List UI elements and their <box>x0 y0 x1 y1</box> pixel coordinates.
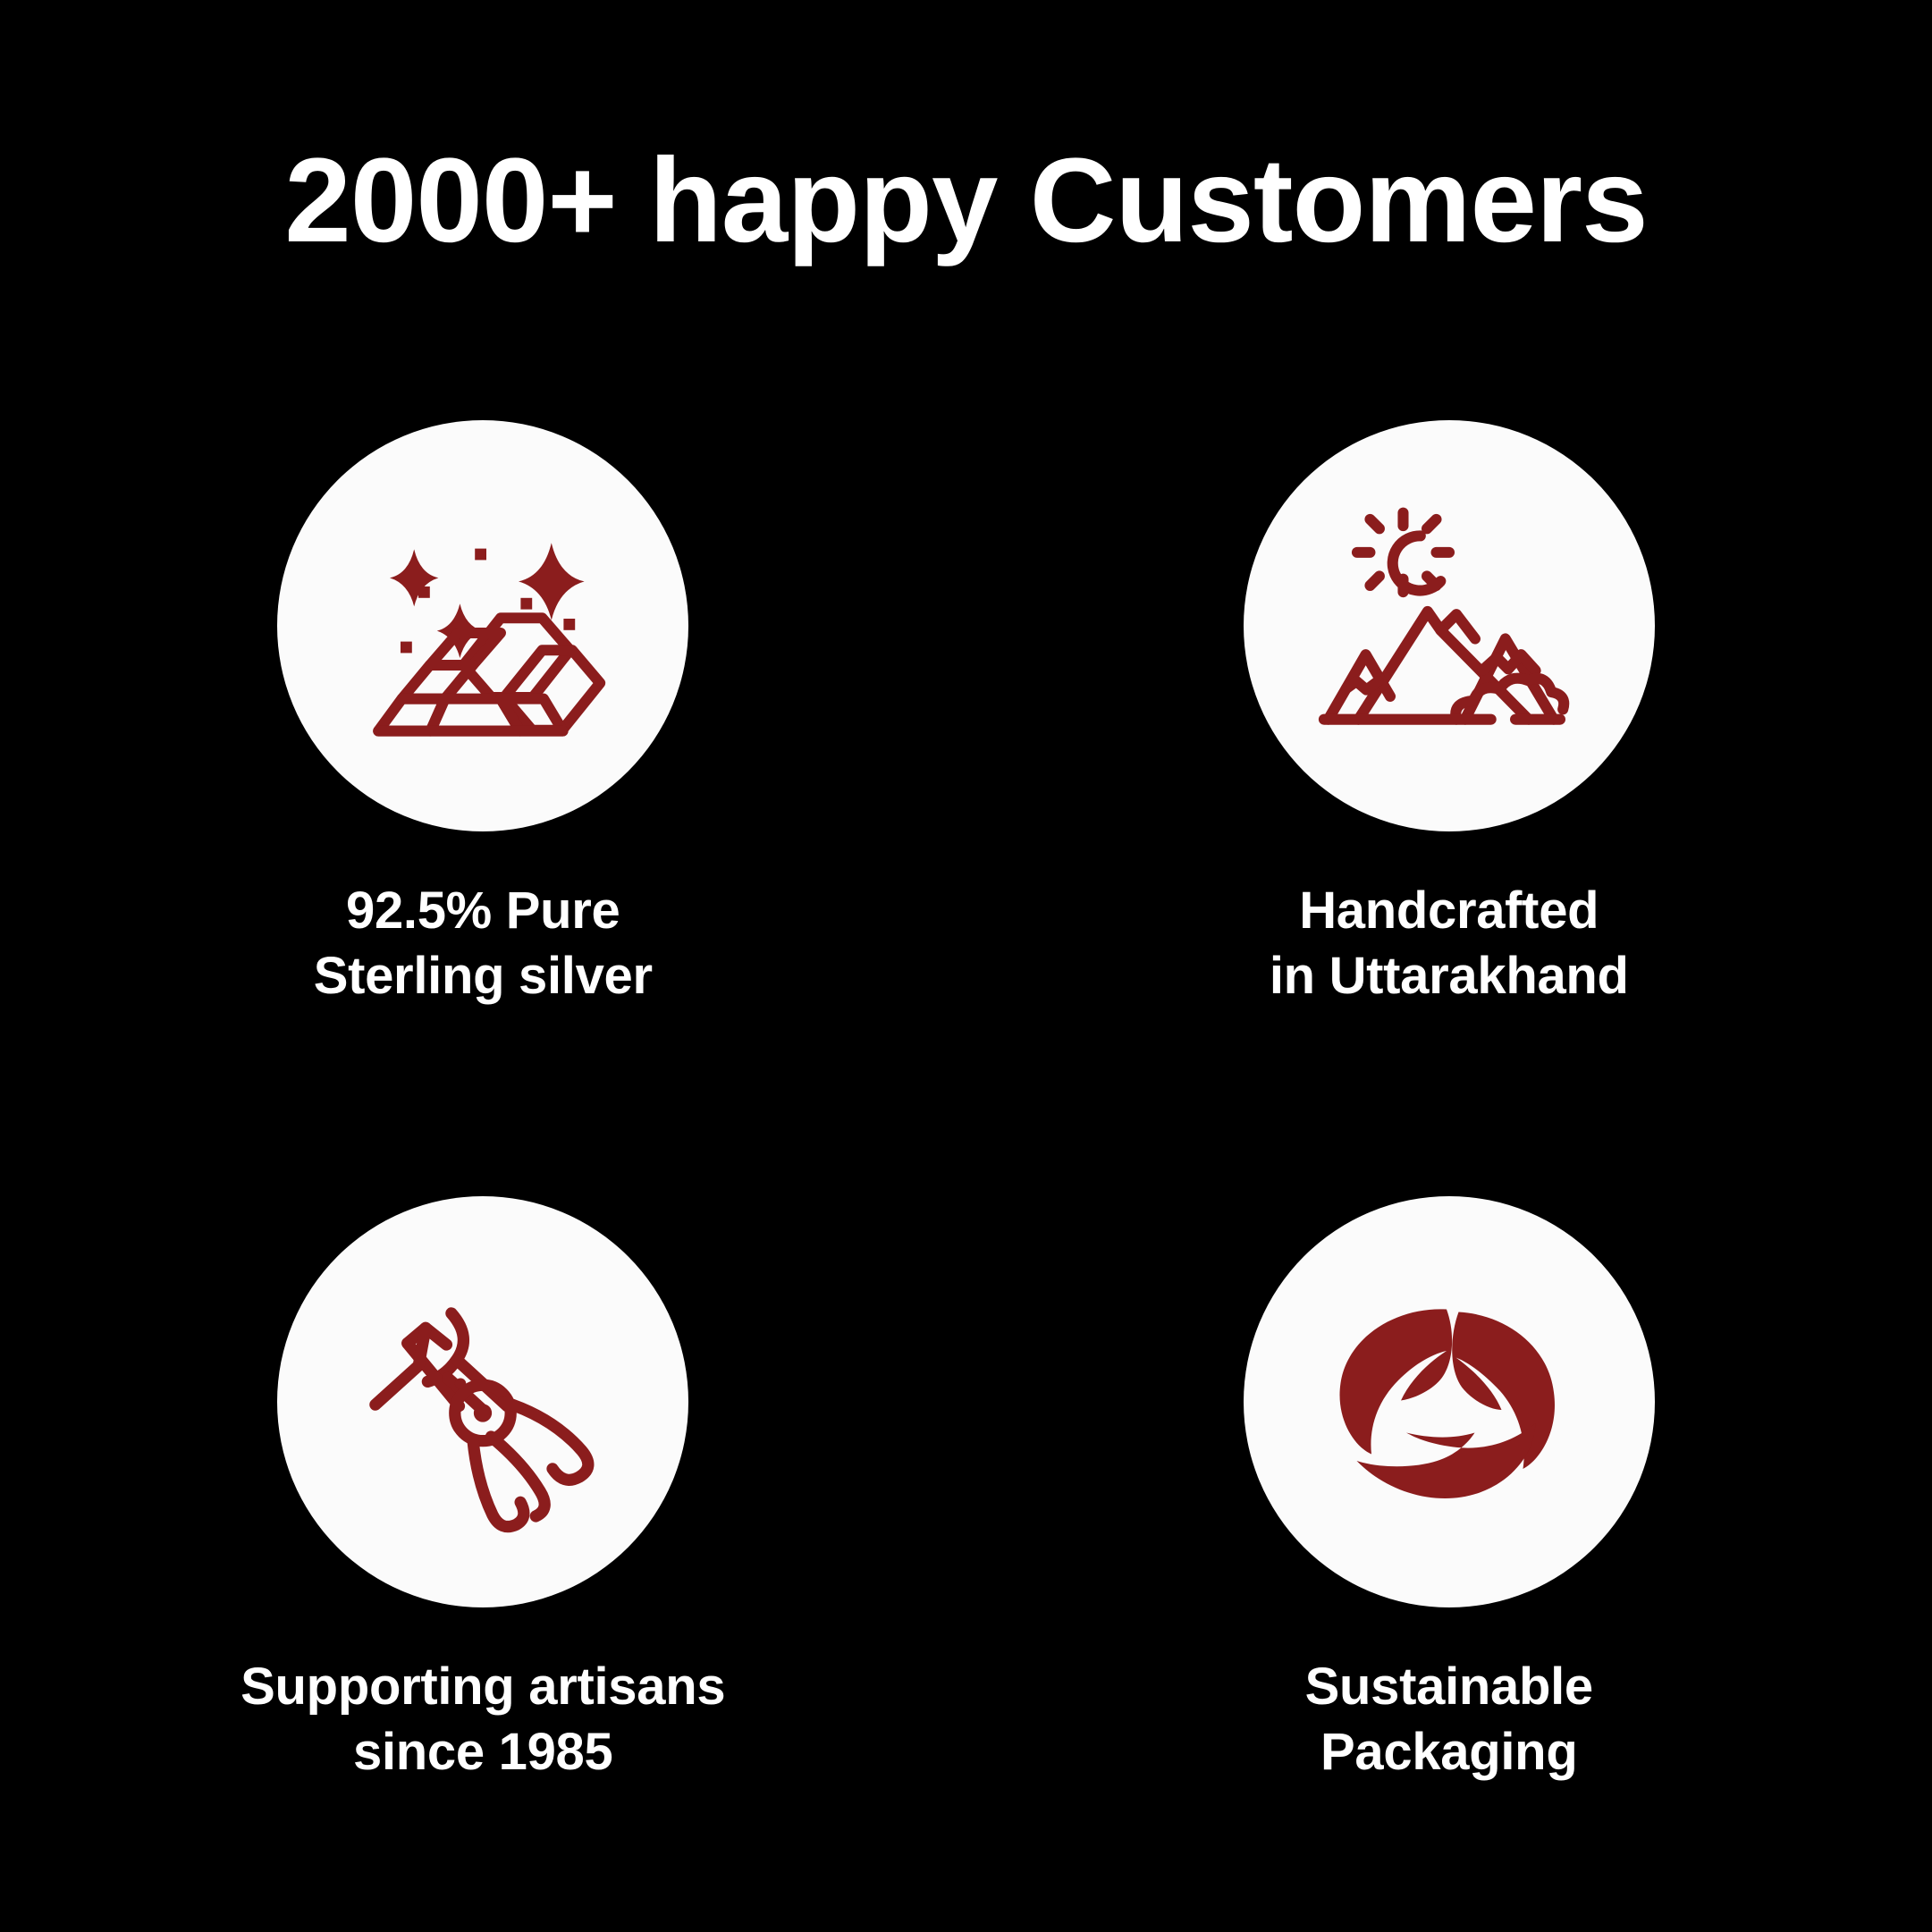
feature-card-sterling-silver: 92.5% Pure Sterling silver <box>112 420 854 1196</box>
promo-banner: 2000+ happy Customers <box>0 0 1932 1932</box>
pliers-tool-badge <box>277 1196 688 1607</box>
caption-line-1: Supporting artisans <box>240 1654 725 1719</box>
caption-line-1: Sustainable <box>1305 1654 1593 1719</box>
caption-line-2: in Uttarakhand <box>1270 943 1629 1008</box>
silver-ingots-icon <box>340 483 626 769</box>
caption-line-2: since 1985 <box>240 1719 725 1784</box>
feature-caption: 92.5% Pure Sterling silver <box>314 878 653 1008</box>
feature-card-handcrafted: Handcrafted in Uttarakhand <box>1078 420 1820 1196</box>
silver-ingots-badge <box>277 420 688 831</box>
pliers-tool-icon <box>343 1262 622 1541</box>
caption-line-2: Packaging <box>1305 1719 1593 1784</box>
page-title: 2000+ happy Customers <box>0 132 1932 270</box>
feature-grid: 92.5% Pure Sterling silver <box>0 420 1932 1784</box>
recycling-leaves-icon <box>1315 1268 1583 1536</box>
feature-caption: Sustainable Packaging <box>1305 1654 1593 1784</box>
caption-line-1: 92.5% Pure <box>314 878 653 943</box>
feature-card-packaging: Sustainable Packaging <box>1078 1196 1820 1784</box>
recycling-leaves-badge <box>1244 1196 1655 1607</box>
mountain-sun-icon <box>1305 482 1593 770</box>
feature-caption: Supporting artisans since 1985 <box>240 1654 725 1784</box>
caption-line-2: Sterling silver <box>314 943 653 1008</box>
caption-line-1: Handcrafted <box>1270 878 1629 943</box>
feature-card-artisans: Supporting artisans since 1985 <box>112 1196 854 1784</box>
feature-caption: Handcrafted in Uttarakhand <box>1270 878 1629 1008</box>
mountain-sun-badge <box>1244 420 1655 831</box>
